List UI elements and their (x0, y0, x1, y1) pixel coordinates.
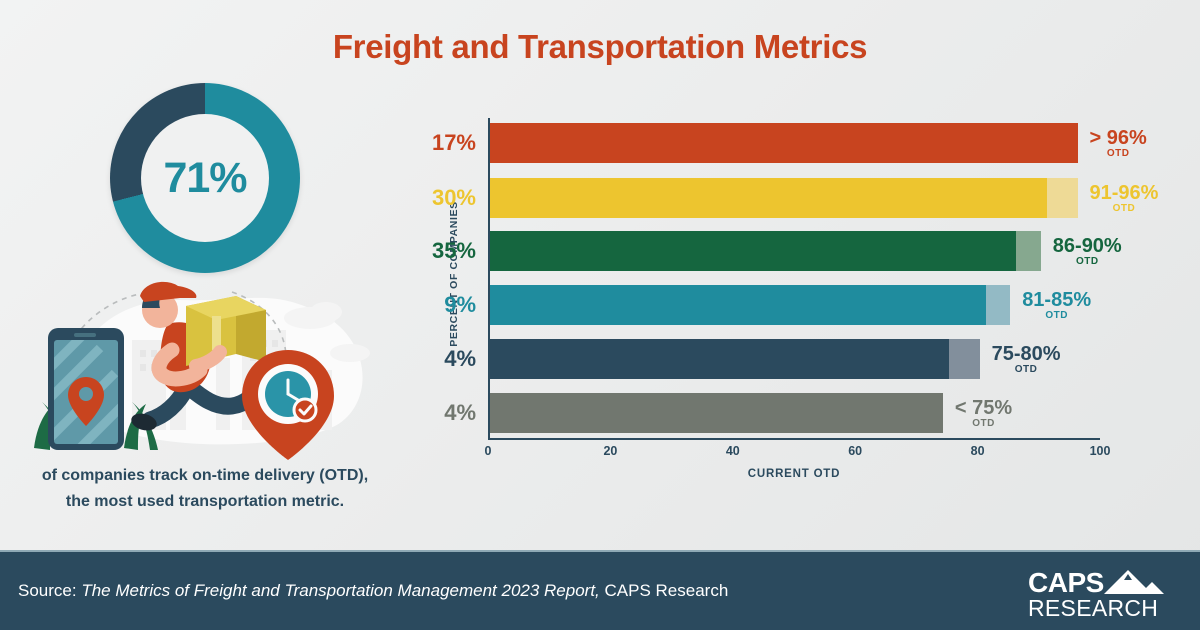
bar-segment-main (490, 123, 1078, 163)
bar-category-label: 91-96%OTD (1090, 183, 1159, 214)
bar-percent-label: 35% (432, 238, 476, 264)
delivery-illustration (20, 258, 390, 468)
bar-range-text: 75-80% (992, 344, 1061, 364)
bar-category-label: 81-85%OTD (1022, 290, 1091, 321)
bar-percent-label: 30% (432, 185, 476, 211)
page-title: Freight and Transportation Metrics (0, 28, 1200, 66)
bar-otd-text: OTD (955, 419, 1012, 429)
bar-range-text: > 96% (1090, 128, 1147, 148)
bar-segment-range (1047, 178, 1078, 218)
x-tick-label: 20 (603, 444, 617, 458)
donut-ring: 71% (110, 83, 300, 273)
donut-panel: 71% (0, 78, 400, 548)
bar-range-text: < 75% (955, 398, 1012, 418)
bar-segment-main (490, 393, 943, 433)
donut-value-label: 71% (163, 154, 246, 203)
x-tick-label: 60 (848, 444, 862, 458)
bar-percent-label: 4% (444, 346, 476, 372)
bar-otd-text: OTD (1090, 204, 1159, 214)
bar-percent-label: 17% (432, 130, 476, 156)
bar-segment-range (949, 339, 980, 379)
footer-bar: Source: The Metrics of Freight and Trans… (0, 550, 1200, 630)
donut-center: 71% (141, 114, 269, 242)
bar-range-text: 81-85% (1022, 290, 1091, 310)
bar-row[interactable]: 4%75-80%OTD (490, 339, 1061, 379)
bar-row[interactable]: 17%> 96%OTD (490, 123, 1147, 163)
bar-segment-main (490, 231, 1016, 271)
x-tick-label: 100 (1090, 444, 1111, 458)
bar-category-label: 86-90%OTD (1053, 236, 1122, 267)
chart-plot-area: 17%> 96%OTD30%91-96%OTD35%86-90%OTD9%81-… (488, 118, 1100, 438)
bar-category-label: < 75%OTD (955, 398, 1012, 429)
bar-chart: PERCENT OF COMPANIES 17%> 96%OTD30%91-96… (400, 118, 1190, 518)
bar-otd-text: OTD (992, 365, 1061, 375)
source-org: CAPS Research (605, 581, 729, 600)
bar-otd-text: OTD (1053, 257, 1122, 267)
bar-range-text: 86-90% (1053, 236, 1122, 256)
bar-range-text: 91-96% (1090, 183, 1159, 203)
bar-segment-range (986, 285, 1010, 325)
bar-segment-range (1016, 231, 1040, 271)
chart-x-axis-label: CURRENT OTD (488, 468, 1100, 480)
x-tick-label: 40 (726, 444, 740, 458)
bar-percent-label: 9% (444, 292, 476, 318)
bar-row[interactable]: 35%86-90%OTD (490, 231, 1122, 271)
bar-row[interactable]: 30%91-96%OTD (490, 178, 1158, 218)
bar-otd-text: OTD (1022, 311, 1091, 321)
logo-caps-text: CAPS (1028, 567, 1104, 598)
logo-research-text: RESEARCH (1028, 595, 1158, 620)
bar-row[interactable]: 9%81-85%OTD (490, 285, 1091, 325)
bar-category-label: > 96%OTD (1090, 128, 1147, 159)
chart-y-axis-label: PERCENT OF COMPANIES (448, 184, 460, 364)
x-tick-label: 0 (485, 444, 492, 458)
bar-segment-main (490, 178, 1047, 218)
x-tick-label: 80 (971, 444, 985, 458)
bar-row[interactable]: 4%< 75%OTD (490, 393, 1012, 433)
bar-percent-label: 4% (444, 400, 476, 426)
bar-segment-main (490, 285, 986, 325)
donut-chart: 71% (110, 83, 300, 273)
bar-segment-main (490, 339, 949, 379)
caps-research-logo: CAPS RESEARCH (1028, 566, 1178, 620)
chart-x-axis (488, 438, 1100, 440)
source-title: The Metrics of Freight and Transportatio… (81, 581, 599, 600)
donut-caption: of companies track on-time delivery (OTD… (40, 463, 370, 515)
source-citation: Source: The Metrics of Freight and Trans… (18, 581, 728, 601)
source-prefix: Source: (18, 581, 77, 600)
bar-otd-text: OTD (1090, 149, 1147, 159)
bar-category-label: 75-80%OTD (992, 344, 1061, 375)
